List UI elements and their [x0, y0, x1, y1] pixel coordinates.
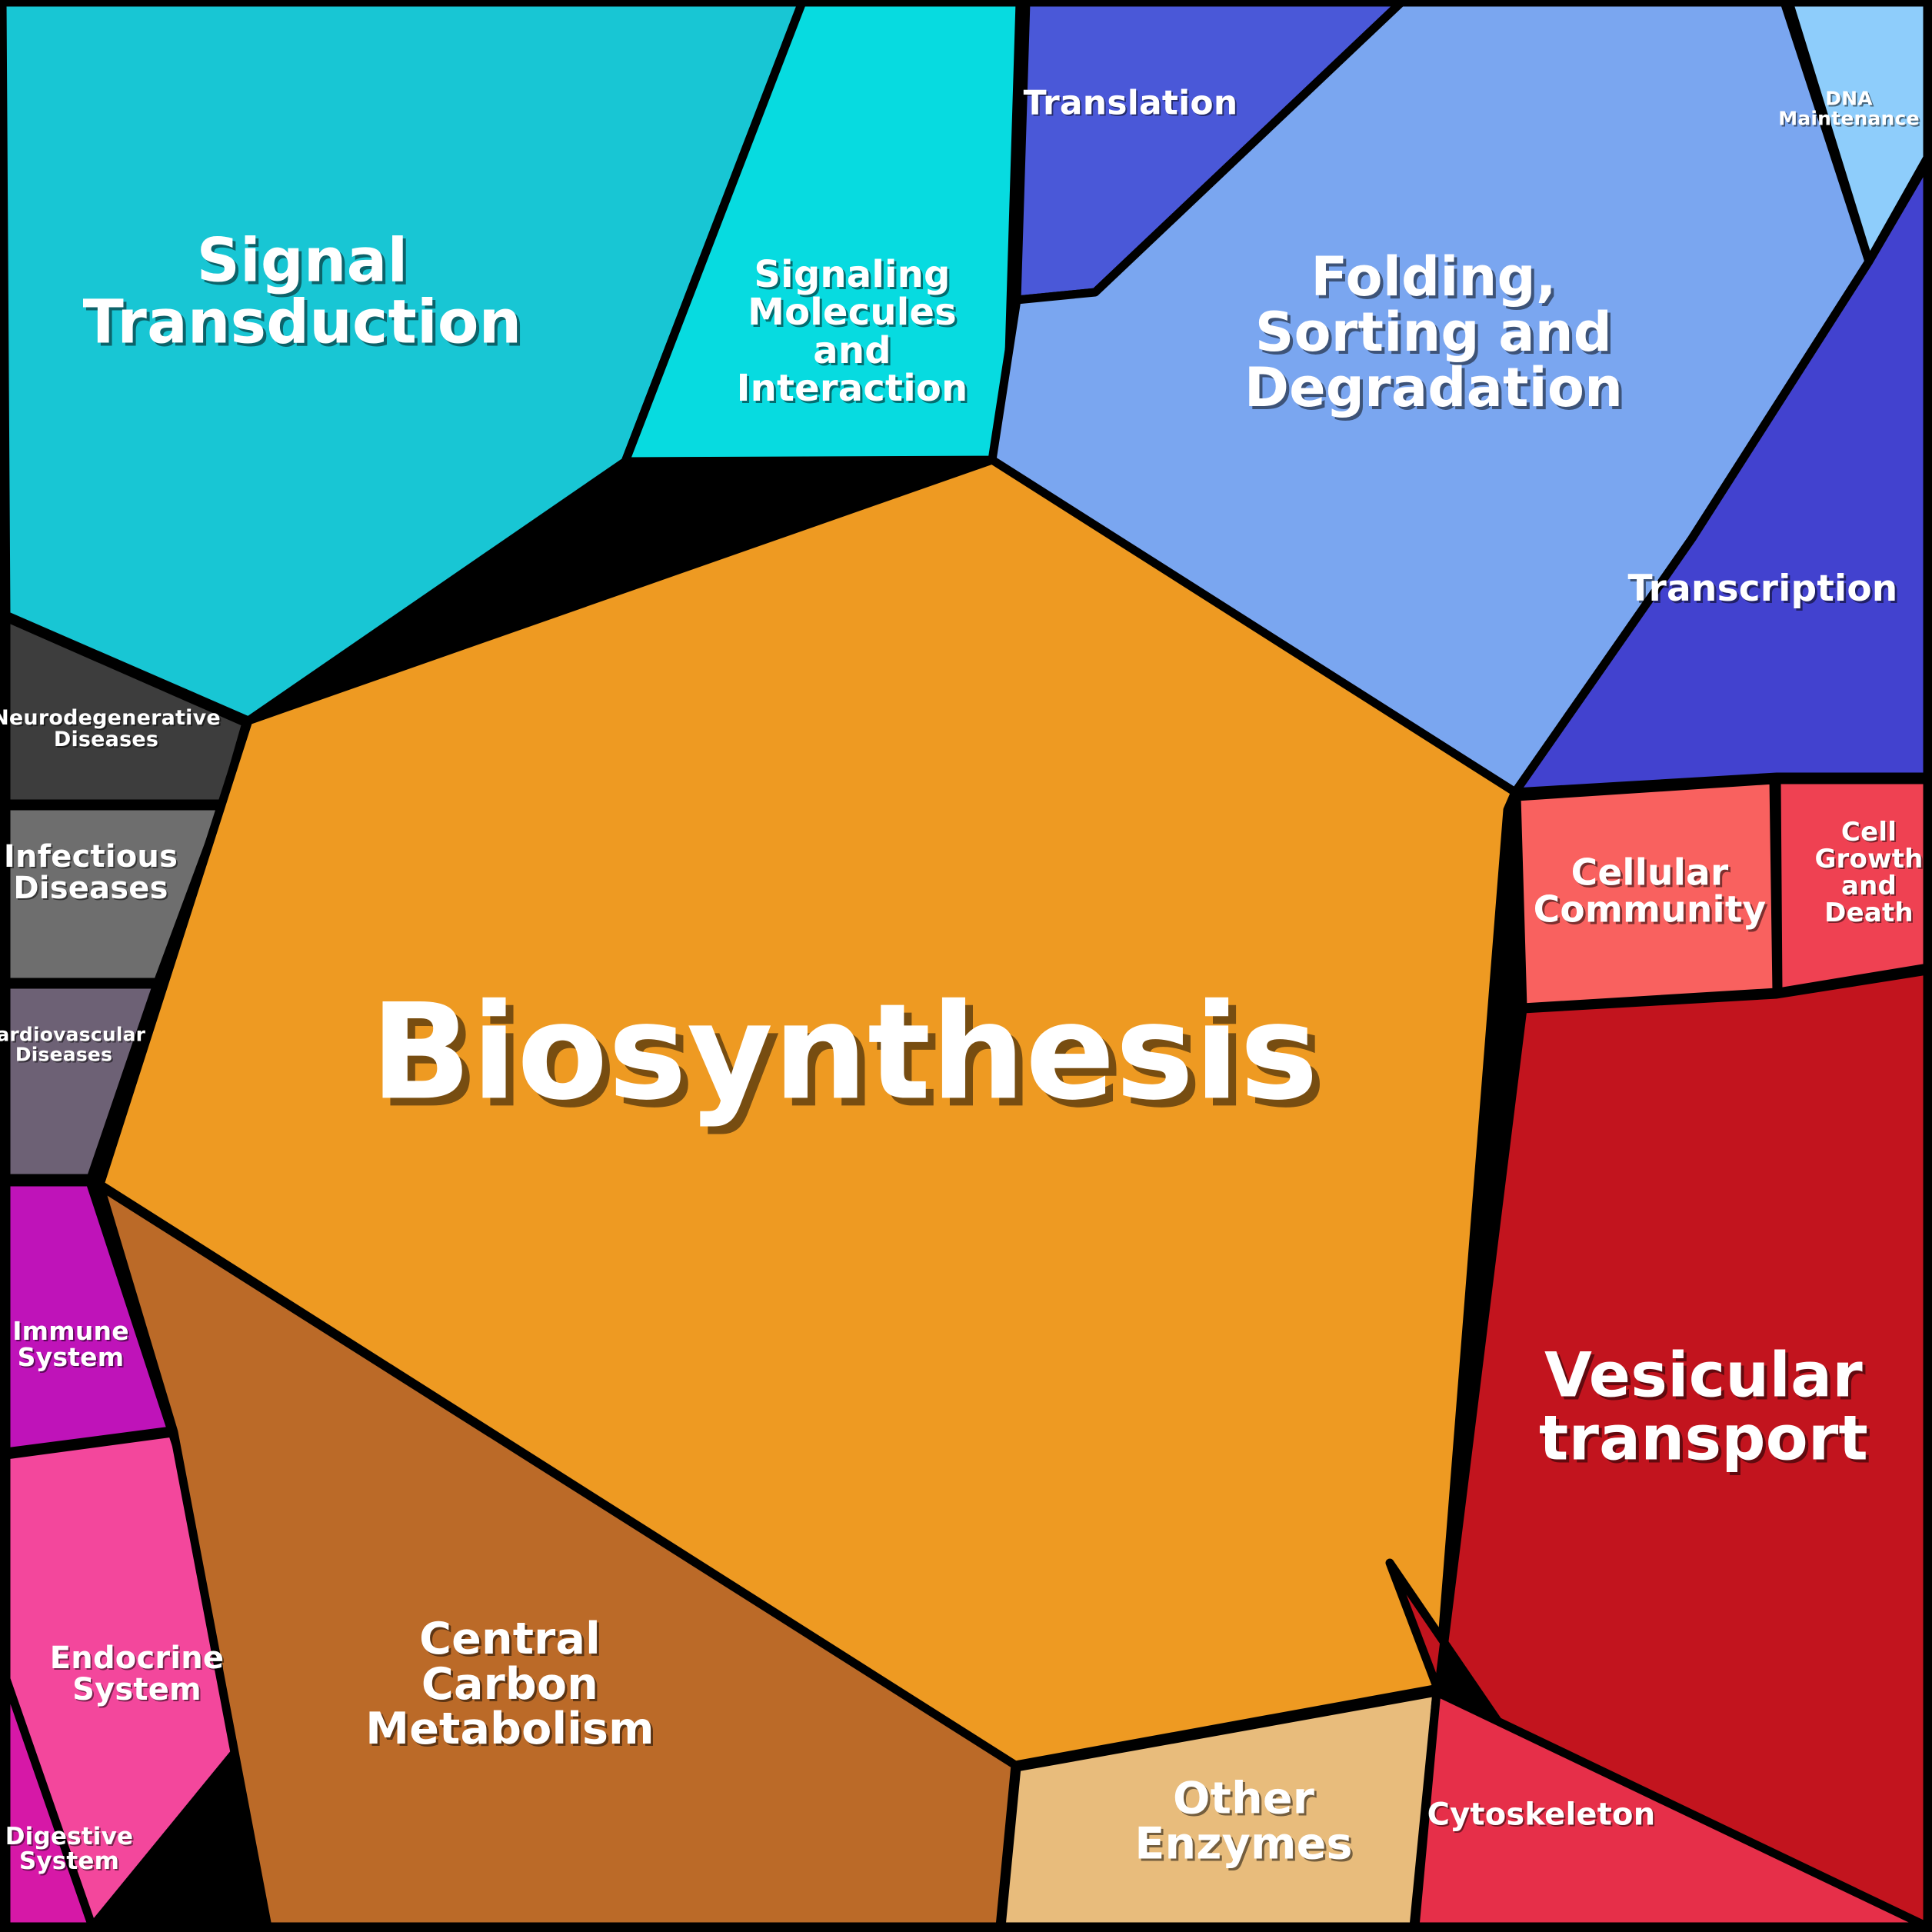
voronoi-cells-svg	[0, 0, 1932, 1932]
voronoi-treemap-figure: Signal TransductionSignaling Molecules a…	[0, 0, 1932, 1932]
treemap-cell-cell-growth-and-death[interactable]	[1777, 780, 1927, 992]
treemap-cell-cellular-community[interactable]	[1517, 780, 1777, 1008]
cells-group	[2, 2, 1927, 1927]
